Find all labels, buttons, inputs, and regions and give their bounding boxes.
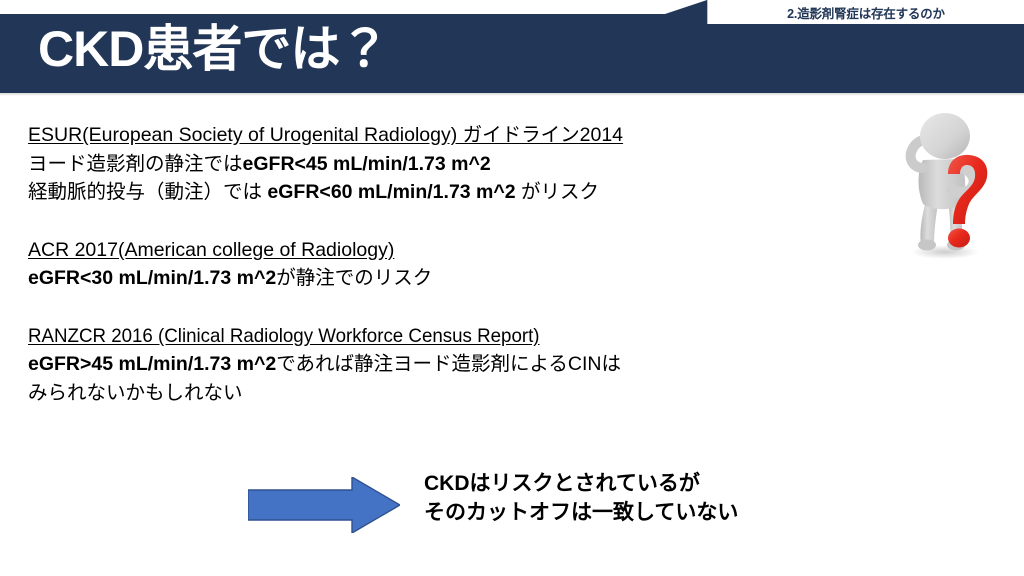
line-text-normal-suffix: であれば静注ヨード造影剤によるCINは <box>276 353 621 375</box>
guideline-block-ranzcr: RANZCR 2016 (Clinical Radiology Workforc… <box>28 323 798 408</box>
section-tab-label: 2.造影剤腎症は存在するのか <box>787 3 945 22</box>
guideline-line: 経動脈的投与（動注）では eGFR<60 mL/min/1.73 m^2 がリス… <box>28 178 798 206</box>
banner-shadow <box>0 93 1024 96</box>
line-text-normal: 経動脈的投与（動注）では <box>28 181 267 203</box>
guideline-block-acr: ACR 2017(American college of Radiology) … <box>28 237 798 293</box>
thinking-person-with-question-mark-icon <box>893 112 1011 270</box>
guideline-heading: RANZCR 2016 (Clinical Radiology Workforc… <box>28 323 767 351</box>
figure-head <box>920 113 970 159</box>
line-text-bold: eGFR<30 mL/min/1.73 m^2 <box>28 267 276 289</box>
line-text-bold: eGFR>45 mL/min/1.73 m^2 <box>28 353 276 375</box>
conclusion-line-1: CKDはリスクとされているが <box>424 470 738 499</box>
conclusion-text: CKDはリスクとされているが そのカットオフは一致していない <box>424 470 738 528</box>
guideline-line: ヨード造影剤の静注ではeGFR<45 mL/min/1.73 m^2 <box>28 150 798 178</box>
guideline-line: みられないかもしれない <box>28 379 798 407</box>
page-title: CKD患者では？ <box>38 18 388 81</box>
section-tab: 2.造影剤腎症は存在するのか <box>707 0 1024 24</box>
slide-canvas: 2.造影剤腎症は存在するのか CKD患者では？ ESUR(European So… <box>0 0 1024 576</box>
right-arrow-icon <box>248 477 400 533</box>
figure-left-foot <box>918 240 936 251</box>
conclusion-line-2: そのカットオフは一致していない <box>424 499 738 528</box>
line-text-normal: みられないかもしれない <box>28 382 243 404</box>
question-mark-dot-icon <box>948 229 970 248</box>
line-text-bold: eGFR<60 mL/min/1.73 m^2 <box>267 181 515 203</box>
guideline-heading: ACR 2017(American college of Radiology) <box>28 237 798 265</box>
line-text-bold: eGFR<45 mL/min/1.73 m^2 <box>243 153 491 175</box>
line-text-normal-suffix: が静注でのリスク <box>276 267 432 289</box>
guideline-line: eGFR>45 mL/min/1.73 m^2であれば静注ヨード造影剤によるCI… <box>28 350 798 378</box>
guideline-block-esur: ESUR(European Society of Urogenital Radi… <box>28 122 798 207</box>
line-text-normal-suffix: がリスク <box>516 181 599 203</box>
guideline-line: eGFR<30 mL/min/1.73 m^2が静注でのリスク <box>28 264 798 292</box>
line-text-normal: ヨード造影剤の静注では <box>28 153 243 175</box>
body-copy: ESUR(European Society of Urogenital Radi… <box>28 122 798 407</box>
guideline-heading: ESUR(European Society of Urogenital Radi… <box>28 122 798 150</box>
